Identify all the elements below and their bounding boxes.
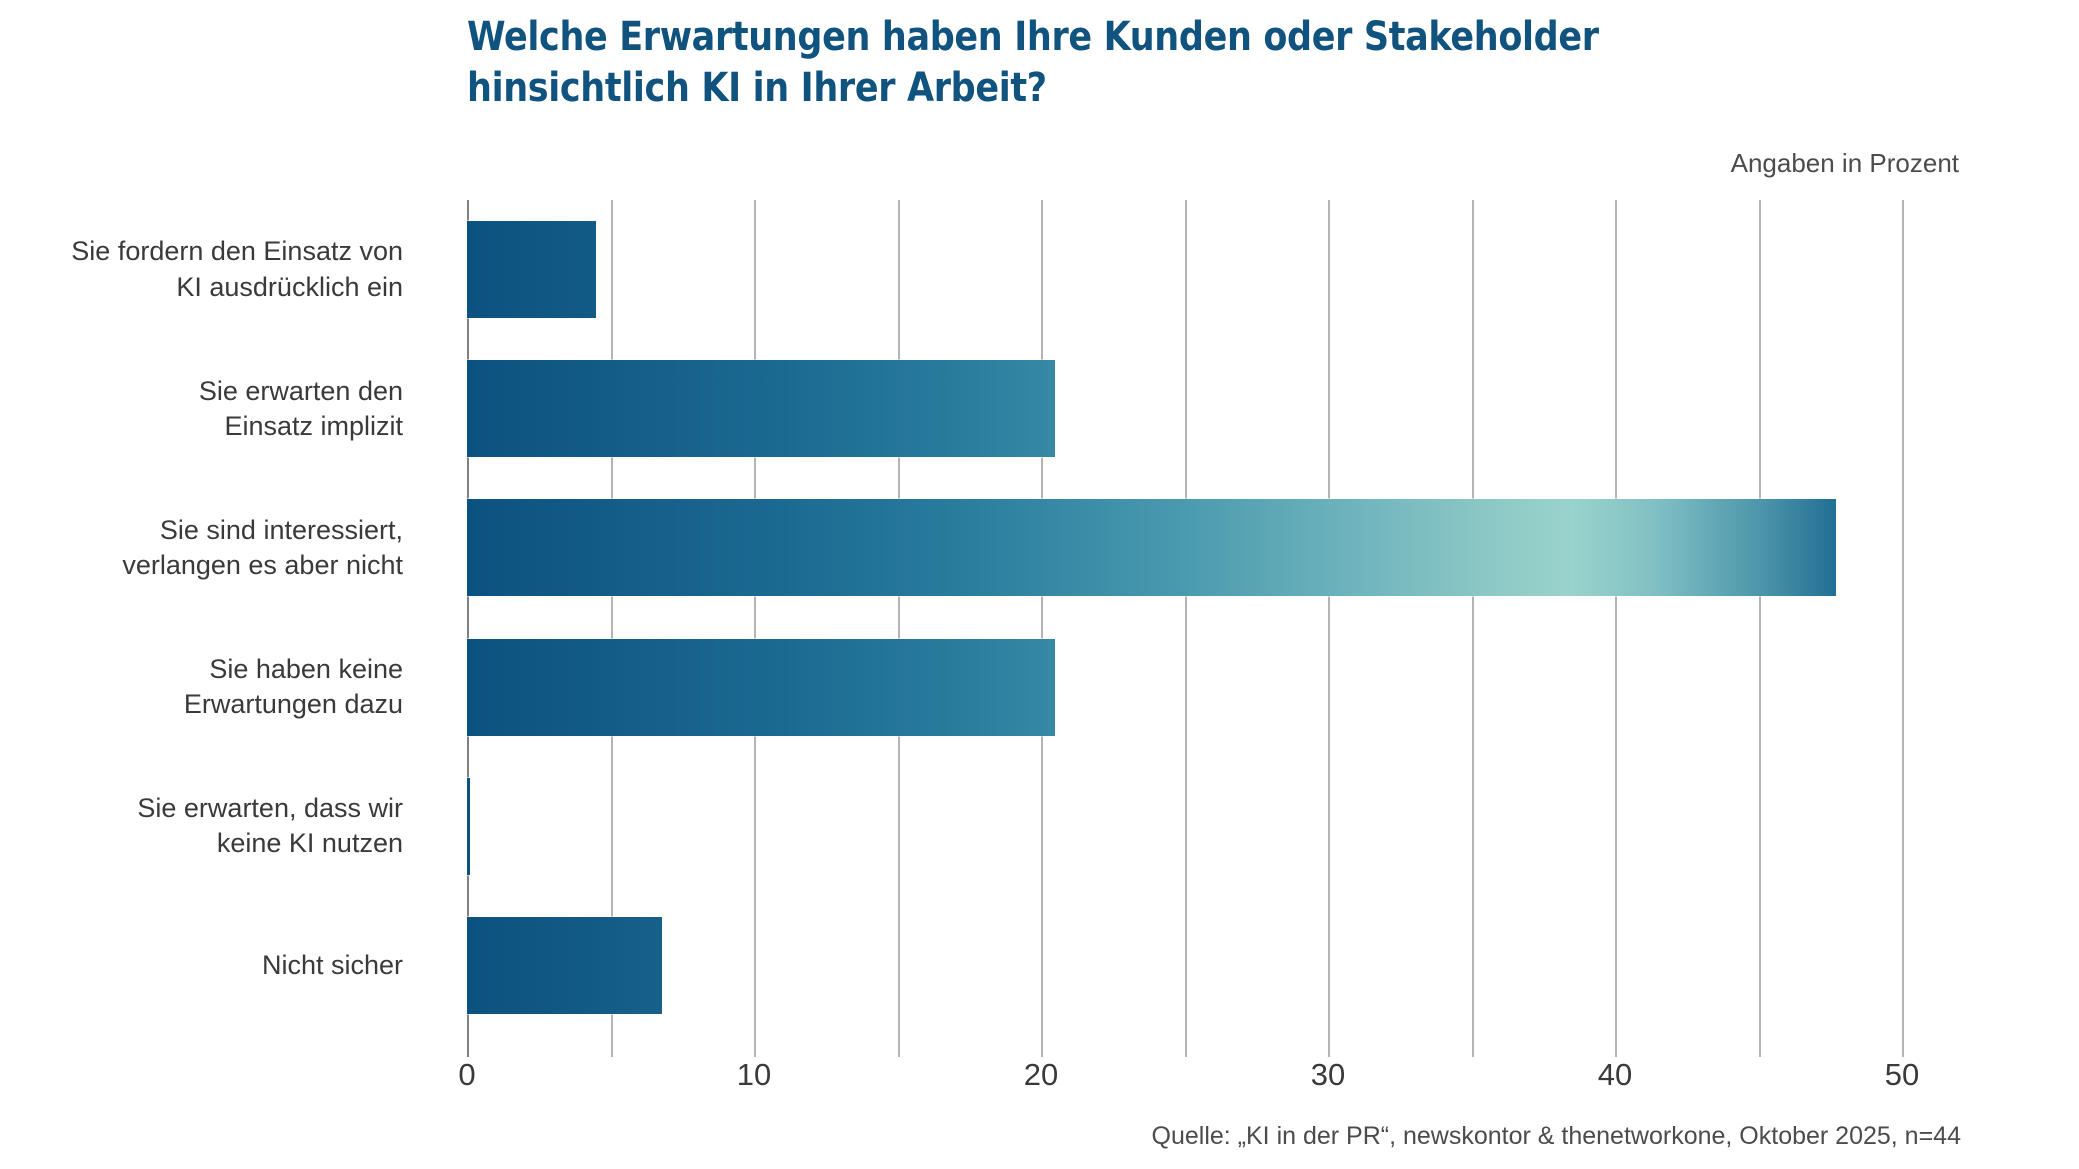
x-axis-tick-label: 50: [1885, 1057, 1919, 1093]
bar[interactable]: [467, 916, 662, 1015]
y-axis-label: Sie fordern den Einsatz von KI ausdrückl…: [0, 200, 435, 339]
chart-title: Welche Erwartungen haben Ihre Kunden ode…: [467, 12, 1648, 114]
x-axis-tick-label: 10: [737, 1057, 771, 1093]
bar-row: [467, 896, 1902, 1035]
units-note: Angaben in Prozent: [1731, 148, 1959, 179]
y-axis-label: Sie erwarten den Einsatz implizit: [0, 339, 435, 478]
bar[interactable]: [467, 359, 1055, 458]
bar-row: [467, 339, 1902, 478]
bar-gradient-fill: [467, 639, 1055, 736]
gridline-50: [1902, 200, 1904, 1057]
chart-root: Welche Erwartungen haben Ihre Kunden ode…: [0, 0, 2079, 1169]
y-axis-label: Nicht sicher: [0, 896, 435, 1035]
x-axis-tick-labels: 01020304050: [467, 1057, 1902, 1107]
bar-gradient-fill: [467, 778, 470, 875]
bar[interactable]: [467, 498, 1836, 597]
bar-row: [467, 757, 1902, 896]
source-note: Quelle: „KI in der PR“, newskontor & the…: [1152, 1122, 1961, 1151]
bar-row: [467, 618, 1902, 757]
y-axis-label: Sie erwarten, dass wir keine KI nutzen: [0, 757, 435, 896]
bar[interactable]: [467, 638, 1055, 737]
bar-row: [467, 478, 1902, 617]
bar-row: [467, 200, 1902, 339]
y-axis-label: Sie haben keine Erwartungen dazu: [0, 618, 435, 757]
x-axis-tick-label: 30: [1311, 1057, 1345, 1093]
x-axis-tick-label: 20: [1024, 1057, 1058, 1093]
bar-gradient-fill: [467, 221, 596, 318]
bar-gradient-fill: [467, 917, 662, 1014]
bar-gradient-fill: [467, 360, 1055, 457]
x-axis-tick-label: 0: [458, 1057, 475, 1093]
x-axis-tick-label: 40: [1598, 1057, 1632, 1093]
y-axis-label: Sie sind interessiert, verlangen es aber…: [0, 478, 435, 617]
bar[interactable]: [467, 777, 470, 876]
bar-gradient-fill: [467, 499, 1836, 596]
plot-area: [467, 200, 1902, 1035]
bar[interactable]: [467, 220, 596, 319]
